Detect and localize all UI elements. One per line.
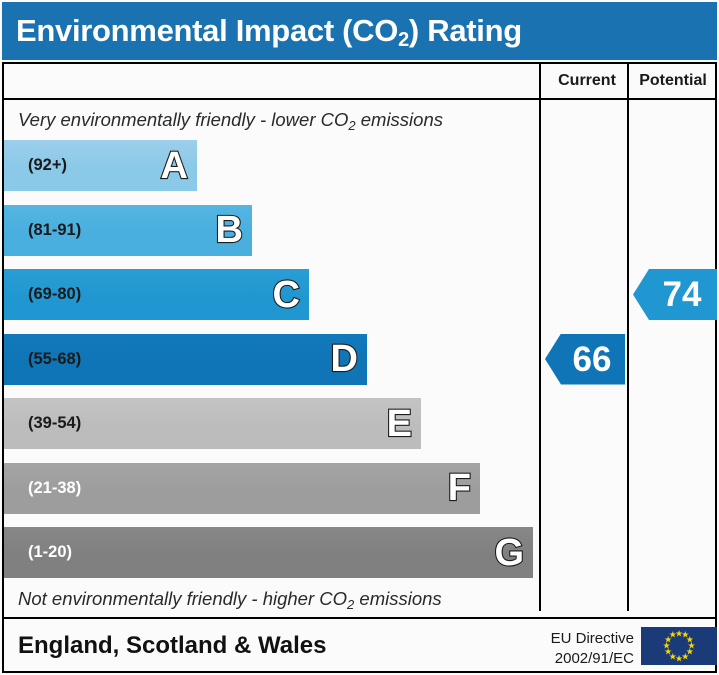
footer-region-label: England, Scotland & Wales (18, 632, 326, 660)
band-letter-f: F (448, 469, 471, 507)
band-range-a: (92+) (4, 156, 67, 175)
chart-footer: England, Scotland & Wales EU Directive 2… (4, 617, 715, 671)
band-letter-c: C (273, 276, 300, 314)
band-range-c: (69-80) (4, 285, 81, 304)
column-header-potential: Potential (631, 64, 715, 98)
column-divider-potential (627, 64, 629, 611)
band-letter-d: D (331, 340, 358, 378)
chart-title-bar: Environmental Impact (CO2) Rating (2, 2, 717, 60)
band-letter-e: E (387, 405, 412, 443)
page-title: Environmental Impact (CO2) Rating (2, 13, 522, 49)
directive-line-1: EU Directive (522, 629, 634, 649)
band-letter-g: G (494, 534, 524, 572)
rating-value-potential: 74 (649, 277, 702, 312)
rating-band-a: (92+)A (4, 140, 197, 191)
band-letter-a: A (161, 147, 188, 185)
rating-band-d: (55-68)D (4, 334, 367, 385)
caption-not-friendly: Not environmentally friendly - higher CO… (18, 588, 533, 610)
directive-line-2: 2002/91/EC (522, 649, 634, 669)
rating-band-b: (81-91)B (4, 205, 252, 256)
eu-flag-icon: ★★★★★★★★★★★★ (641, 627, 717, 665)
band-range-b: (81-91) (4, 221, 81, 240)
caption-very-friendly: Very environmentally friendly - lower CO… (18, 109, 533, 131)
rating-value-current: 66 (559, 342, 612, 377)
column-divider-current (539, 64, 541, 611)
rating-arrow-current: 66 (545, 334, 625, 385)
rating-band-g: (1-20)G (4, 527, 533, 578)
band-range-e: (39-54) (4, 414, 81, 433)
rating-band-f: (21-38)F (4, 463, 480, 514)
column-header-row: Current Potential (4, 64, 715, 100)
column-header-current: Current (543, 64, 631, 98)
eu-star-icon: ★ (669, 631, 677, 640)
band-range-f: (21-38) (4, 479, 81, 498)
rating-band-e: (39-54)E (4, 398, 421, 449)
epc-environmental-impact-chart: Environmental Impact (CO2) Rating Curren… (0, 0, 719, 675)
rating-arrow-potential: 74 (633, 269, 717, 320)
rating-band-c: (69-80)C (4, 269, 309, 320)
title-subscript: 2 (398, 29, 409, 51)
band-range-g: (1-20) (4, 543, 72, 562)
band-letter-b: B (216, 211, 243, 249)
band-range-d: (55-68) (4, 350, 81, 369)
footer-directive-label: EU Directive 2002/91/EC (522, 629, 634, 669)
